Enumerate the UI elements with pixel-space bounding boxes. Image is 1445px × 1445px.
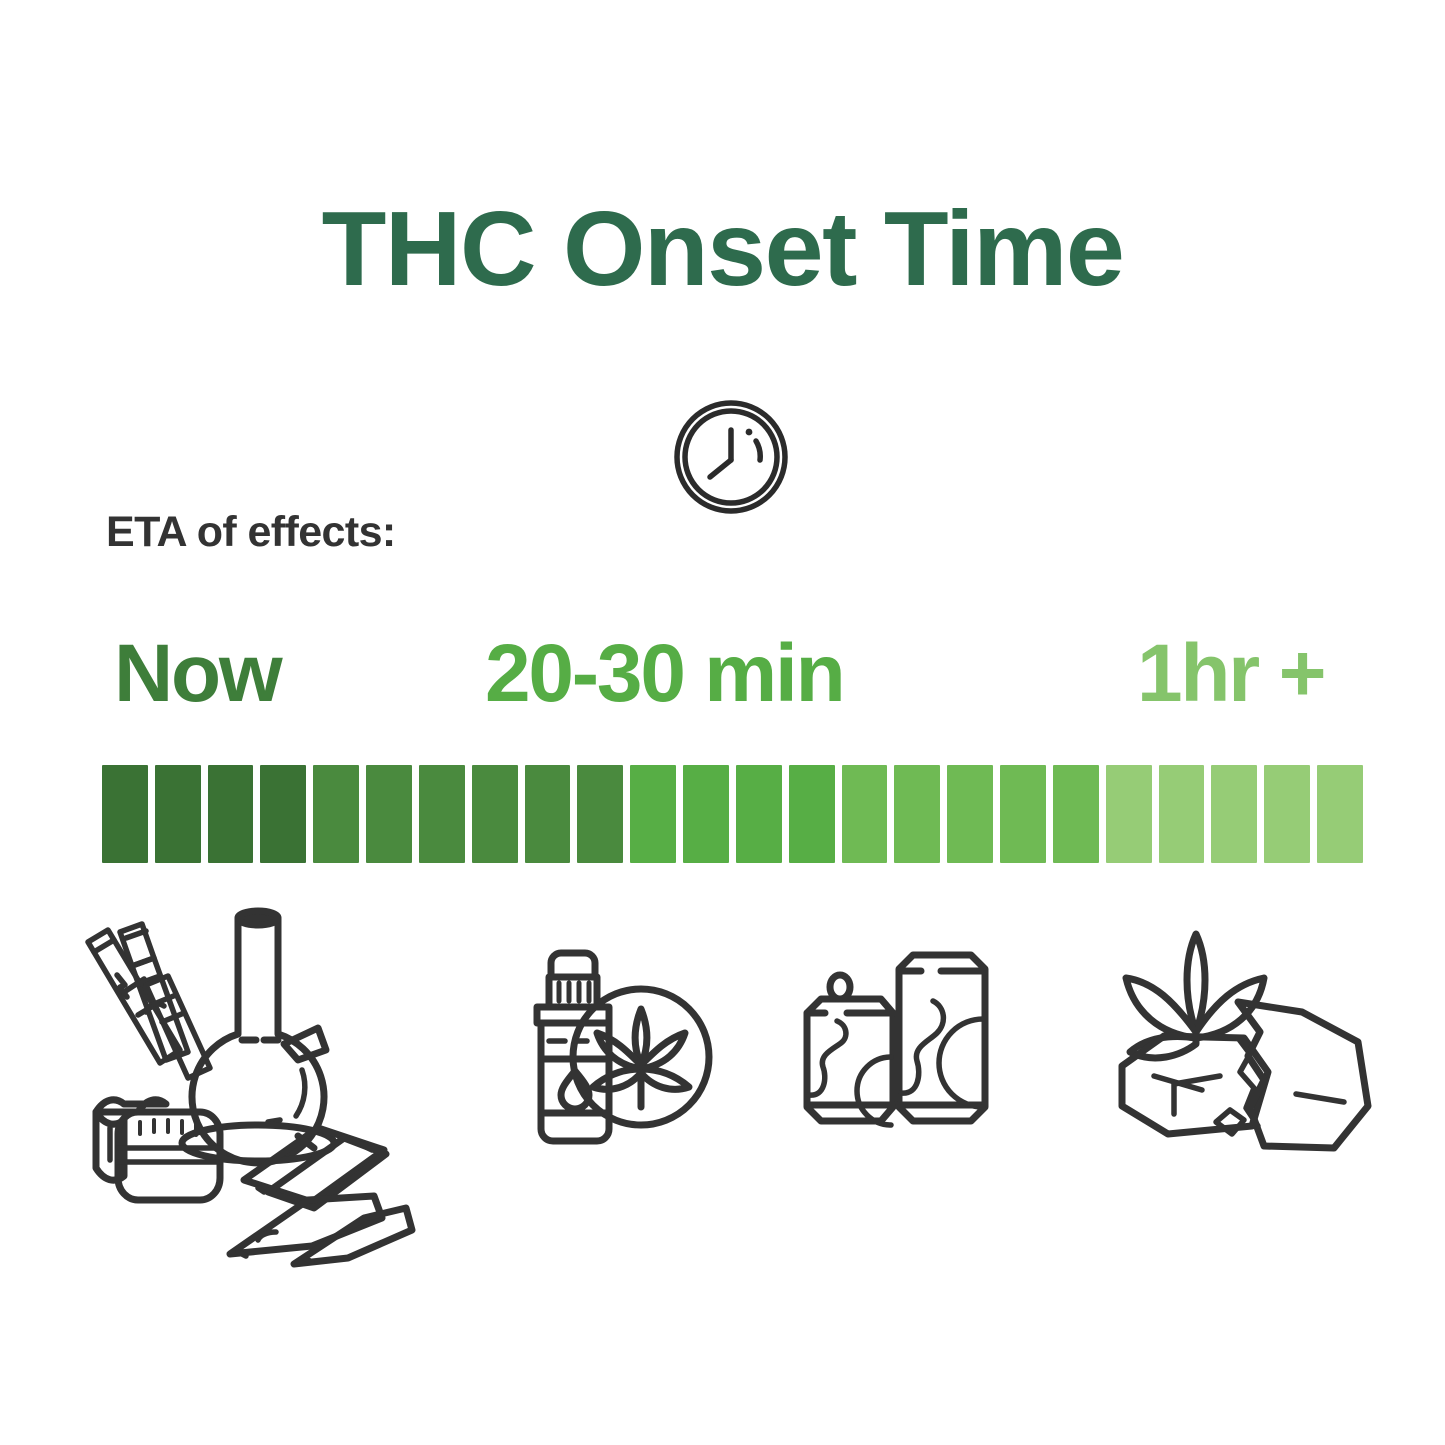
gradient-bar-segment (577, 765, 623, 863)
gradient-bar-segment (1317, 765, 1363, 863)
tincture-bottle-leaf-icon (505, 947, 720, 1152)
gradient-bar-segment (208, 765, 254, 863)
gradient-bar-segment (102, 765, 148, 863)
gradient-bar-segment (1264, 765, 1310, 863)
gradient-bar-segment (789, 765, 835, 863)
onset-gradient-bar (102, 765, 1363, 863)
gradient-bar-segment (1159, 765, 1205, 863)
gradient-bar-segment (472, 765, 518, 863)
eta-of-effects-label: ETA of effects: (106, 508, 396, 557)
gradient-bar-segment (894, 765, 940, 863)
gradient-bar-segment (947, 765, 993, 863)
gradient-bar-segment (1211, 765, 1257, 863)
clock-icon (672, 398, 790, 516)
onset-label-20-30-min: 20-30 min (485, 624, 844, 724)
gradient-bar-segment (1106, 765, 1152, 863)
cannabis-edible-brownie-icon (1112, 920, 1387, 1160)
gradient-bar-segment (842, 765, 888, 863)
gradient-bar-segment (260, 765, 306, 863)
gradient-bar-segment (313, 765, 359, 863)
thc-onset-time-infographic: THC Onset Time ETA of effects: Now 20-30… (0, 0, 1445, 1445)
timeline-labels: Now 20-30 min 1hr + (102, 624, 1363, 724)
gradient-bar-segment (1053, 765, 1099, 863)
onset-label-1hr-plus: 1hr + (1137, 624, 1324, 724)
gradient-bar-segment (736, 765, 782, 863)
gradient-bar-segment (630, 765, 676, 863)
cannabis-beverage-cans-icon (795, 947, 995, 1152)
gradient-bar-segment (525, 765, 571, 863)
onset-label-now: Now (114, 624, 281, 724)
page-title: THC Onset Time (0, 196, 1445, 302)
gradient-bar-segment (155, 765, 201, 863)
product-icons-row (0, 895, 1445, 1295)
smoking-accessories-icon (62, 900, 422, 1272)
gradient-bar-segment (1000, 765, 1046, 863)
gradient-bar-segment (419, 765, 465, 863)
gradient-bar-segment (683, 765, 729, 863)
gradient-bar-segment (366, 765, 412, 863)
